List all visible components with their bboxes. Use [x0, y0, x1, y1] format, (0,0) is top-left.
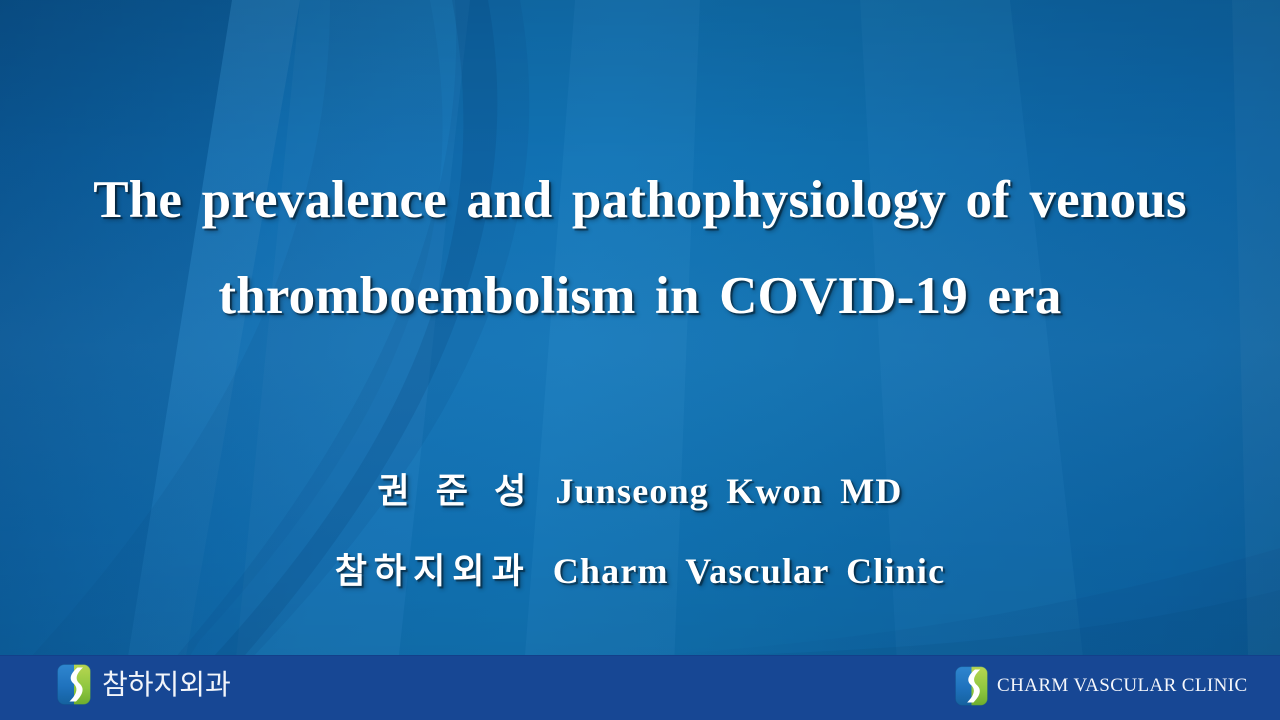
author-name-korean: 권 준 성 — [377, 472, 533, 512]
author-name-english: Junseong Kwon MD — [533, 471, 902, 511]
charm-clinic-logo-icon — [57, 664, 91, 705]
slide-title: The prevalence and pathophysiology of ve… — [0, 152, 1280, 344]
slide-footer-bar: 참하지외과 — [0, 655, 1280, 720]
slide-author-block: 권 준 성Junseong Kwon MD 참하지외과Charm Vascula… — [0, 455, 1280, 615]
title-slide: The prevalence and pathophysiology of ve… — [0, 0, 1280, 720]
author-name-row: 권 준 성Junseong Kwon MD — [0, 455, 1280, 535]
title-line-1: The prevalence and pathophysiology of ve… — [60, 152, 1220, 248]
charm-clinic-logo-icon — [955, 666, 988, 706]
title-line-2: thromboembolism in COVID-19 era — [60, 248, 1220, 344]
footer-brand-left: 참하지외과 — [57, 664, 231, 705]
author-affiliation-row: 참하지외과Charm Vascular Clinic — [0, 535, 1280, 615]
affiliation-english: Charm Vascular Clinic — [531, 551, 946, 591]
footer-brand-right: CHARM VASCULAR CLINIC — [955, 666, 1248, 706]
footer-brand-label-left: 참하지외과 — [102, 665, 231, 705]
affiliation-korean: 참하지외과 — [335, 552, 531, 592]
footer-brand-label-right: CHARM VASCULAR CLINIC — [997, 666, 1248, 706]
